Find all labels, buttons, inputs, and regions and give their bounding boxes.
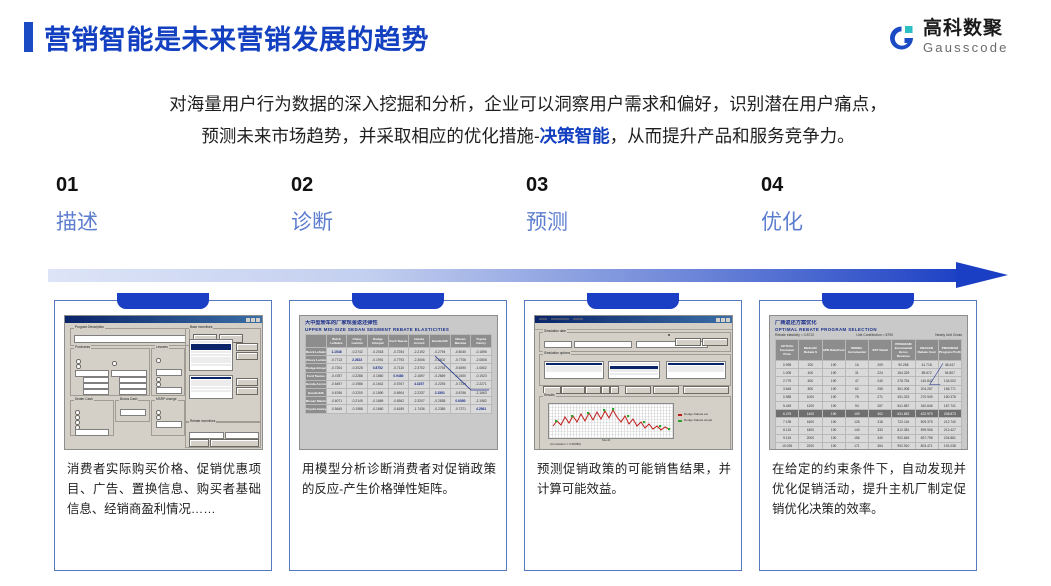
opt-cell: 190 <box>822 369 845 377</box>
matrix-cell: -1.0602 <box>471 364 492 372</box>
step-headers: 01 描述 02 诊断 03 预测 04 优化 <box>0 172 1051 252</box>
select-all-button[interactable] <box>625 386 651 394</box>
lead-line-1: 对海量用户行为数据的深入挖掘和分析，企业可以洞察用户需求和偏好，识别潜在用户痛点… <box>52 88 1004 120</box>
list-item <box>191 341 231 344</box>
opt-cell: 224 <box>869 369 892 377</box>
matrix-cell: -0.7713 <box>326 356 347 364</box>
list-item <box>191 380 231 383</box>
radio-apr[interactable] <box>156 382 161 387</box>
matrix-row-header: Nissan Maxima <box>306 397 327 405</box>
table-row: 6.2751400190109302631.852422.979208.873 <box>776 410 962 418</box>
list-item <box>191 351 231 354</box>
opt-cell: 187.741 <box>938 401 961 409</box>
clear-all-models-button[interactable] <box>236 352 258 360</box>
opt-cell: 190 <box>822 385 845 393</box>
opt-col-header: APR Rate/Cost <box>822 340 845 361</box>
table-row: Chevy Lumina-0.77132.2622-0.1991-0.7793-… <box>306 356 492 364</box>
program-description-input[interactable] <box>74 335 186 343</box>
opt-cell: 812.381 <box>892 426 915 434</box>
opt-cell: 89.672 <box>915 369 938 377</box>
group-simulation-options: Simulation options <box>539 354 731 386</box>
menu-item-simulation[interactable] <box>551 318 569 320</box>
opt-cell: 78 <box>845 393 868 401</box>
matrix-col-header: Toyota Camry <box>471 335 492 348</box>
market-share-select[interactable] <box>544 341 572 348</box>
maximize-icon <box>721 318 725 322</box>
arrow-body <box>48 269 968 282</box>
group-title: Simulation options <box>543 351 571 355</box>
matrix-col-header: Nissan Maxima <box>450 335 471 348</box>
lead-highlight: 决策智能 <box>540 126 610 146</box>
matrix-cell: -0.2018 <box>367 348 388 356</box>
report-meta: Rebate elasticity = 0.8712 Unit Contribu… <box>775 333 962 338</box>
matrix-row-header: Honda 626 <box>306 388 327 396</box>
group-title: Dealer Cash <box>74 397 94 401</box>
matrix-col-header: Dodge Intrepid <box>367 335 388 348</box>
matrix-cell: -0.7371 <box>450 405 471 413</box>
restore-environment-button[interactable] <box>210 439 259 447</box>
table-row: 0.585100019078271451.323270.949180.378 <box>776 393 962 401</box>
graph-button[interactable] <box>683 386 729 394</box>
radio-percent-msrp[interactable] <box>156 415 161 420</box>
select-all-regions-button[interactable] <box>236 378 258 386</box>
matrix-cell: -0.1660 <box>367 405 388 413</box>
matrix-cell: -0.2200 <box>347 388 368 396</box>
opt-cell: 190 <box>822 401 845 409</box>
arrow-head-icon <box>956 262 1008 288</box>
stop-button[interactable] <box>702 338 728 346</box>
brand-logo: 高科数聚 Gausscode <box>885 18 1035 62</box>
matrix-cell: -2.0808 <box>471 356 492 364</box>
card-tab <box>352 293 444 309</box>
card-caption: 在给定的约束条件下，自动发现并优化促销活动，提升主机厂制定促销优化决策的效率。 <box>772 459 966 519</box>
opt-cell: 278.754 <box>892 377 915 385</box>
maximize-icon <box>251 318 255 322</box>
matrix-col-header: Honda Accord <box>409 335 430 348</box>
page-header: 营销智能是未来营销发展的趋势 高科数聚 Gausscode <box>0 0 1051 72</box>
list-item <box>610 369 658 372</box>
list-item <box>191 357 231 360</box>
opt-cell: 212.740 <box>938 418 961 426</box>
group-title: Purchases <box>74 345 91 349</box>
move-up-button[interactable] <box>601 386 610 394</box>
close-icon <box>726 318 730 322</box>
opt-cell: 200 <box>799 361 822 369</box>
optimization-table: ACTUAL Customer PriceDEALER Rebate $APR … <box>775 339 962 450</box>
opt-cell: 400 <box>799 369 822 377</box>
opt-cell: 190 <box>822 377 845 385</box>
table-row: Honda Accord-0.5497-0.1986-0.1642-0.5767… <box>306 380 492 388</box>
matrix-row-header: Chevy Lumina <box>306 356 327 364</box>
step-02: 02 诊断 <box>291 172 491 238</box>
bonus-cash-input[interactable] <box>120 409 146 416</box>
matrix-cell: -0.2602 <box>429 356 450 364</box>
opt-cell: 204.287 <box>915 385 938 393</box>
matrix-cell: -0.1860 <box>367 372 388 380</box>
matrix-cell: -0.7110 <box>388 364 409 372</box>
gausscode-logo-icon <box>885 22 917 54</box>
matrix-cell: -0.1642 <box>367 380 388 388</box>
list-item <box>546 369 602 372</box>
opt-cell: 902.645 <box>892 434 915 442</box>
opt-cell: 240 <box>869 377 892 385</box>
opt-cell: 5.449 <box>776 401 799 409</box>
matrix-cell: -0.2028 <box>347 364 368 372</box>
matrix-cell: -0.2293 <box>429 380 450 388</box>
opt-cell: 140 <box>845 426 868 434</box>
opt-cell: 333 <box>869 426 892 434</box>
opt-cell: 190 <box>822 410 845 418</box>
screenshot-simulation-window: Simulation date Simulation options <box>534 315 733 450</box>
step-number: 01 <box>56 172 256 198</box>
opt-cell: 48.447 <box>938 361 961 369</box>
edit-button[interactable] <box>585 386 601 394</box>
matrix-cell: 1.1548 <box>326 348 347 356</box>
group-title: Lessees <box>155 345 169 349</box>
matrix-cell: 2.1591 <box>429 388 450 396</box>
opt-cell: 90.268 <box>892 361 915 369</box>
step-01: 01 描述 <box>56 172 256 238</box>
card-tab <box>117 293 209 309</box>
mock-window-titlebar <box>65 316 262 323</box>
chart-series <box>549 404 673 438</box>
matrix-cell: -0.8040 <box>450 348 471 356</box>
run-case-button[interactable] <box>675 338 701 346</box>
opt-cell: 10.035 <box>776 442 799 450</box>
step-number: 04 <box>761 172 961 198</box>
report-title-cn: 厂商返还方案优化 <box>775 320 962 327</box>
table-row: 7.1951600190125318722.116509.375212.740 <box>776 418 962 426</box>
list-item <box>668 369 724 372</box>
dealer-cash-select[interactable] <box>75 429 109 436</box>
opt-cell: 1200 <box>799 401 822 409</box>
opt-cell: 109 <box>845 410 868 418</box>
clear-button[interactable] <box>189 439 209 447</box>
close-icon <box>256 318 260 322</box>
legend-label-actual: Dodge Dakota actual <box>684 418 712 422</box>
opt-cell: 191.038 <box>938 442 961 450</box>
card-caption: 消费者实际购买价格、促销优惠项目、广告、置换信息、购买者基础信息、经销商盈利情况… <box>67 459 261 519</box>
list-item <box>191 387 231 390</box>
radio-money-factor[interactable] <box>156 377 161 382</box>
radio-all-cash-inc-bonus[interactable] <box>75 420 80 425</box>
opt-cell: 7.195 <box>776 418 799 426</box>
clear-all-button[interactable] <box>653 386 679 394</box>
opt-cell: 190 <box>822 426 845 434</box>
list-item <box>610 373 658 376</box>
table-row: 8.1151800190140333812.381599.906212.427 <box>776 426 962 434</box>
matrix-cell: -0.6766 <box>326 388 347 396</box>
opt-cell: 0.585 <box>776 393 799 401</box>
matrix-cell: -0.2742 <box>347 348 368 356</box>
table-row: 3.64580019062255361.008204.287156.771 <box>776 385 962 393</box>
lead-line-2: 预测未来市场趋势，并采取相应的优化措施-决策智能，从而提升产品和服务竞争力。 <box>52 120 1004 152</box>
group-title: Results <box>543 393 556 397</box>
list-item <box>191 364 231 367</box>
matrix-cell: 0.8752 <box>367 364 388 372</box>
clear-all-regions-button[interactable] <box>236 387 258 395</box>
minimize-icon <box>716 318 720 322</box>
matrix-cell: -2.2606 <box>409 356 430 364</box>
matrix-cell: -2.2192 <box>409 348 430 356</box>
minimize-icon <box>246 318 250 322</box>
matrix-cell: -0.1500 <box>450 372 471 380</box>
screenshot-elasticity-matrix: 大中型轿车的厂家现金返还弹性 UPPER MID-SIZE SEDAN SEGM… <box>299 315 498 450</box>
opt-cell: 3.645 <box>776 385 799 393</box>
lessee-cash-input[interactable] <box>156 369 182 376</box>
options-listbox[interactable] <box>666 361 726 379</box>
matrix-cell: -0.1869 <box>367 397 388 405</box>
matrix-cell: -2.1697 <box>409 372 430 380</box>
opt-cell: 255 <box>869 385 892 393</box>
lessee-rate-input[interactable] <box>156 387 182 394</box>
opt-cell: 600 <box>799 377 822 385</box>
opt-cell: 180.378 <box>938 393 961 401</box>
radio-rebate-cash-inc[interactable] <box>75 415 80 420</box>
opt-cell: 62 <box>845 385 868 393</box>
opt-cell: 184.329 <box>892 369 915 377</box>
table-row: Ford Taurus-0.4787-0.2288-0.18600.9480-2… <box>306 372 492 380</box>
opt-cell: 156 <box>845 434 868 442</box>
title-accent-bar <box>24 22 33 52</box>
menu-item-file[interactable] <box>539 318 547 320</box>
matrix-cell: -0.7314 <box>450 380 471 388</box>
models-listbox[interactable] <box>189 339 233 371</box>
opt-cell: 134.002 <box>938 377 961 385</box>
matrix-cell: -0.4787 <box>326 372 347 380</box>
series-estimated-line <box>553 410 669 430</box>
models-listbox[interactable] <box>608 361 660 379</box>
correlation-footnote: (Correlation = 0.96386) <box>550 442 581 446</box>
opt-cell: 1600 <box>799 418 822 426</box>
purchase-rate-48[interactable] <box>119 389 147 395</box>
list-item <box>546 366 602 369</box>
rebate-region-select[interactable] <box>225 432 259 439</box>
opt-cell: 302 <box>869 410 892 418</box>
regions-listbox[interactable] <box>189 375 233 399</box>
group-title: Bonus Cash <box>119 397 138 401</box>
opt-cell: 190 <box>822 361 845 369</box>
lead-line-2-pre: 预测未来市场趋势，并采取相应的优化措施- <box>201 126 539 146</box>
step-04: 04 优化 <box>761 172 961 238</box>
group-title: Rebate incentives <box>189 419 216 423</box>
card-caption: 预测促销政策的可能销售结果，并计算可能效益。 <box>537 459 731 499</box>
matrix-cell: -0.6490 <box>450 364 471 372</box>
opt-cell: 364 <box>869 442 892 450</box>
opt-cell: 287 <box>869 401 892 409</box>
opt-cell: 156.771 <box>938 385 961 393</box>
radio-no-subsidy[interactable] <box>156 358 161 363</box>
matrix-cell: -0.1991 <box>367 356 388 364</box>
opt-cell: 722.116 <box>892 418 915 426</box>
group-msrp-change: MSRP change <box>151 400 185 436</box>
step-label: 预测 <box>526 208 726 238</box>
matrix-cell: -0.2385 <box>429 405 450 413</box>
matrix-cell: -2.3207 <box>409 397 430 405</box>
list-item <box>191 354 231 357</box>
opt-cell: 509.375 <box>915 418 938 426</box>
matrix-cell: -0.6189 <box>388 405 409 413</box>
matrix-cell: -0.6362 <box>388 397 409 405</box>
rebate-model-select[interactable] <box>189 432 224 439</box>
progress-arrow <box>48 262 1008 288</box>
radio-amount[interactable] <box>156 410 161 415</box>
opt-cell: 8.115 <box>776 426 799 434</box>
scenarios-listbox[interactable] <box>544 361 604 379</box>
lead-line-2-post: ，从而提升产品和服务竞争力。 <box>610 126 855 146</box>
opt-cell: 41.718 <box>915 361 938 369</box>
step-label: 诊断 <box>291 208 491 238</box>
remove-button[interactable] <box>561 386 585 394</box>
run-case-button[interactable] <box>668 334 670 336</box>
list-item <box>191 347 231 350</box>
matrix-cell: -0.7706 <box>450 356 471 364</box>
purchase-select-1[interactable] <box>75 370 109 377</box>
opt-cell: 212.427 <box>938 426 961 434</box>
opt-col-header: DEALER Rebate Cost <box>915 340 938 361</box>
matrix-cell: -0.6904 <box>388 388 409 396</box>
table-row: 5.449120019094287541.587340.846187.741 <box>776 401 962 409</box>
opt-cell: 631.852 <box>892 410 915 418</box>
card-caption: 用模型分析诊断消费者对促销政策的反应-产生价格弹性矩阵。 <box>302 459 496 499</box>
matrix-cell: -0.6071 <box>326 397 347 405</box>
elasticity-matrix-table: Buick LeSabreChevy LuminaDodge IntrepidF… <box>305 334 492 414</box>
opt-col-header: EST Retail <box>869 340 892 361</box>
matrix-cell: -2.1982 <box>471 397 492 405</box>
report-title-cn: 大中型轿车的厂家现金返还弹性 <box>305 320 492 327</box>
opt-cell: 140.842 <box>915 377 938 385</box>
group-base-incentives: Base incentives <box>185 328 261 422</box>
opt-cell: 992.910 <box>892 442 915 450</box>
matrix-col-header: Ford Taurus <box>388 335 409 348</box>
group-dealer-cash: Dealer Cash <box>70 400 114 436</box>
list-item <box>191 377 231 380</box>
matrix-cell: 4.2561 <box>471 405 492 413</box>
group-lessees: Lessees <box>151 348 185 396</box>
opt-col-header: PROGRAM Program Profit <box>938 340 961 361</box>
mock-optimization-report: 厂商返还方案优化 OPTIMAL REBATE PROGRAM SELECTIO… <box>770 316 967 449</box>
matrix-row-header: Dodge Intrepid <box>306 364 327 372</box>
table-row: 1.00540019031224184.32989.67294.807 <box>776 369 962 377</box>
group-bonus-cash: Bonus Cash <box>115 400 150 422</box>
matrix-row-header: Ford Taurus <box>306 372 327 380</box>
opt-cell: 47 <box>845 377 868 385</box>
prediction-chart <box>548 403 674 439</box>
step-number: 02 <box>291 172 491 198</box>
chart-axis-label: Month <box>602 438 610 442</box>
matrix-cell: -0.5497 <box>326 380 347 388</box>
matrix-row-header: Honda Accord <box>306 380 327 388</box>
matrix-cell: -0.2669 <box>429 372 450 380</box>
segment-select[interactable] <box>574 341 632 348</box>
logo-name-cn: 高科数聚 <box>923 18 1035 40</box>
logo-text: 高科数聚 Gausscode <box>923 18 1035 56</box>
move-down-button[interactable] <box>610 386 619 394</box>
opt-cell: 541.587 <box>892 401 915 409</box>
logo-name-en: Gausscode <box>923 40 1035 56</box>
opt-cell: 190 <box>822 442 845 450</box>
table-row: 0.9952001901620990.26841.71848.447 <box>776 361 962 369</box>
radio-apr-subsidy[interactable] <box>76 364 81 369</box>
matrix-col-header: Chevy Lumina <box>347 335 368 348</box>
opt-cell: 190 <box>822 418 845 426</box>
table-row: 10.0352200190171364992.910803.471191.038 <box>776 442 962 450</box>
matrix-row-header: Toyota Camry <box>306 405 327 413</box>
matrix-cell: -0.2794 <box>429 364 450 372</box>
radio-not-offered[interactable] <box>112 361 117 366</box>
opt-cell: 204.881 <box>938 434 961 442</box>
group-title: Program Description <box>74 325 105 329</box>
matrix-cell: 0.6080 <box>450 397 471 405</box>
list-item <box>668 363 724 366</box>
group-program-description: Program Description <box>70 328 190 346</box>
table-row: Toyota Camry-0.5645-0.1988-0.1660-0.6189… <box>306 405 492 413</box>
matrix-cell: -0.8766 <box>450 388 471 396</box>
opt-cell: 361.008 <box>892 385 915 393</box>
matrix-cell: -2.3702 <box>409 364 430 372</box>
lead-paragraph: 对海量用户行为数据的深入挖掘和分析，企业可以洞察用户需求和偏好，识别潜在用户痛点… <box>52 88 1004 152</box>
select-all-models-button[interactable] <box>236 343 258 351</box>
opt-cell: 800 <box>799 385 822 393</box>
mock-window: Program Description Base incentives <box>65 316 262 449</box>
matrix-cell: -2.2271 <box>471 380 492 388</box>
opt-cell: 190 <box>822 393 845 401</box>
menu-item-tools[interactable] <box>573 318 583 320</box>
opt-cell: 803.471 <box>915 442 938 450</box>
purchase-select-2[interactable] <box>111 370 147 377</box>
opt-col-header: ACTUAL Customer Price <box>776 340 799 361</box>
opt-cell: 190 <box>822 434 845 442</box>
opt-cell: 9.115 <box>776 434 799 442</box>
group-results: Results <box>539 396 731 450</box>
matrix-cell: -0.5767 <box>388 380 409 388</box>
group-rebate-incentives: Rebate incentives <box>185 422 261 448</box>
opt-cell: 422.979 <box>915 410 938 418</box>
step-label: 优化 <box>761 208 961 238</box>
legend-label-estimated: Dodge Dakota est <box>684 412 708 416</box>
list-item <box>191 344 231 347</box>
opt-cell: 0.995 <box>776 361 799 369</box>
opt-col-header: PROGRAM Incremental Gross Revenue <box>892 340 915 361</box>
list-item <box>610 366 658 369</box>
msrp-change-input[interactable] <box>156 421 182 428</box>
meta-elasticity: Rebate elasticity = 0.8712 <box>775 333 814 338</box>
opt-cell: 270.949 <box>915 393 938 401</box>
matrix-cell: -0.2288 <box>347 372 368 380</box>
opt-col-header: MODEL Incremental <box>845 340 868 361</box>
opt-cell: 2000 <box>799 434 822 442</box>
radio-no-rebate[interactable] <box>76 359 81 364</box>
matrix-cell: -0.1986 <box>347 380 368 388</box>
matrix-cell: -0.7254 <box>388 348 409 356</box>
group-title: MSRP change <box>155 397 178 401</box>
matrix-col-header: Buick LeSabre <box>326 335 347 348</box>
matrix-cell: -0.2149 <box>347 397 368 405</box>
radio-cash-only[interactable] <box>75 410 80 415</box>
opt-cell: 171 <box>845 442 868 450</box>
group-title: Base incentives <box>189 325 213 329</box>
matrix-cell: -2.2337 <box>409 388 430 396</box>
matrix-cell: -1.7436 <box>409 405 430 413</box>
step-number: 03 <box>526 172 726 198</box>
matrix-row-header: Buick LeSabre <box>306 348 327 356</box>
report-title-en: UPPER MID-SIZE SEDAN SEGMENT REBATE ELAS… <box>305 327 492 333</box>
opt-cell: 1400 <box>799 410 822 418</box>
purchase-term-48[interactable] <box>83 389 109 395</box>
table-row: 9.1152000190156349902.645697.798204.881 <box>776 434 962 442</box>
matrix-corner <box>306 335 327 348</box>
screenshot-windows-dialog: Program Description Base incentives <box>64 315 263 450</box>
